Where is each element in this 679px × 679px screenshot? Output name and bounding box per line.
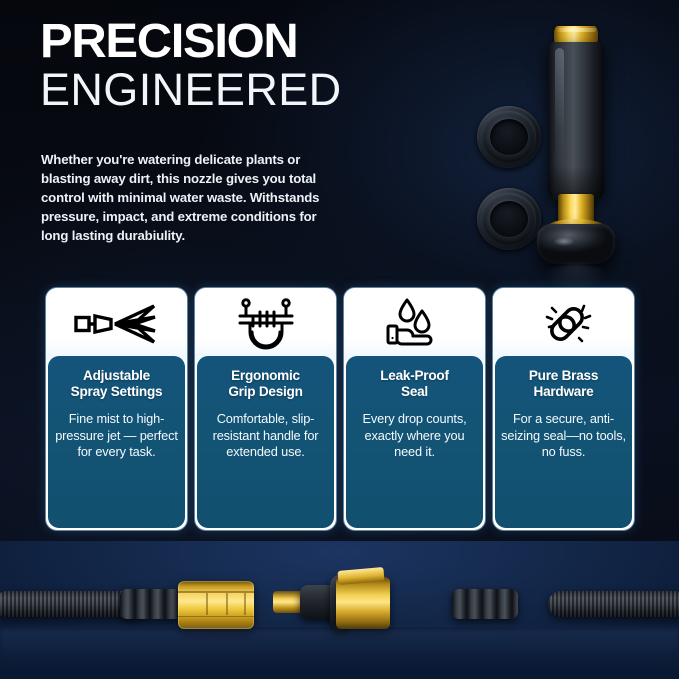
card-description: Every drop counts, exactly where you nee… [352,411,477,461]
black-barrel [548,42,604,200]
card-title: Adjustable Spray Settings [71,368,163,400]
card-icon-area [195,288,336,360]
bottom-product-strip [0,541,679,679]
hand-grip-icon [236,298,296,350]
card-description: For a secure, anti-seizing seal—no tools… [501,411,626,461]
card-text-panel: Leak-Proof Seal Every drop counts, exact… [346,356,483,528]
washer-center-hole [490,119,528,155]
spray-nozzle-icon [74,302,160,346]
card-text-panel: Ergonomic Grip Design Comfortable, slip-… [197,356,334,528]
feature-card-pure-brass-hardware[interactable]: Pure Brass Hardware For a secure, anti-s… [493,288,634,530]
body-copy: Whether you're watering delicate plants … [41,150,341,245]
strip-reflection [0,629,679,675]
feature-card-leak-proof-seal[interactable]: Leak-Proof Seal Every drop counts, exact… [344,288,485,530]
rubber-washer-ring-bottom-icon [477,188,541,250]
washer-center-hole [490,201,528,237]
feature-cards-row: Adjustable Spray Settings Fine mist to h… [46,288,634,530]
card-icon-area [46,288,187,360]
product-infographic-poster: PRECISION ENGINEERED Whether you're wate… [0,0,679,679]
card-text-panel: Adjustable Spray Settings Fine mist to h… [48,356,185,528]
card-text-panel: Pure Brass Hardware For a secure, anti-s… [495,356,632,528]
hero-product-image [455,8,679,280]
card-title: Pure Brass Hardware [529,368,598,400]
water-drop-hand-icon [382,297,448,351]
headline-primary: PRECISION [40,18,348,65]
spray-nozzle-product [533,26,619,256]
hose-strain-relief-left [120,589,182,619]
card-icon-area [493,288,634,360]
connector-slot [226,593,228,615]
chain-link-icon [535,298,593,350]
connector-slot [206,593,208,615]
brass-shutoff-valve [336,577,390,629]
headline-secondary: ENGINEERED [40,67,342,113]
rubber-washer-ring-top-icon [477,106,541,168]
brass-hose-connector [178,581,254,629]
rubber-base-bumper [537,224,615,264]
card-description: Comfortable, slip-resistant handle for e… [203,411,328,461]
card-title: Ergonomic Grip Design [228,368,302,400]
feature-card-adjustable-spray[interactable]: Adjustable Spray Settings Fine mist to h… [46,288,187,530]
card-title: Leak-Proof Seal [380,368,449,400]
hose-strain-relief-right [452,589,518,619]
card-description: Fine mist to high-pressure jet — perfect… [54,411,179,461]
card-icon-area [344,288,485,360]
braided-hose-right [548,591,679,617]
headline-block: PRECISION ENGINEERED [40,18,342,113]
feature-card-ergonomic-grip[interactable]: Ergonomic Grip Design Comfortable, slip-… [195,288,336,530]
connector-slot [244,593,246,615]
